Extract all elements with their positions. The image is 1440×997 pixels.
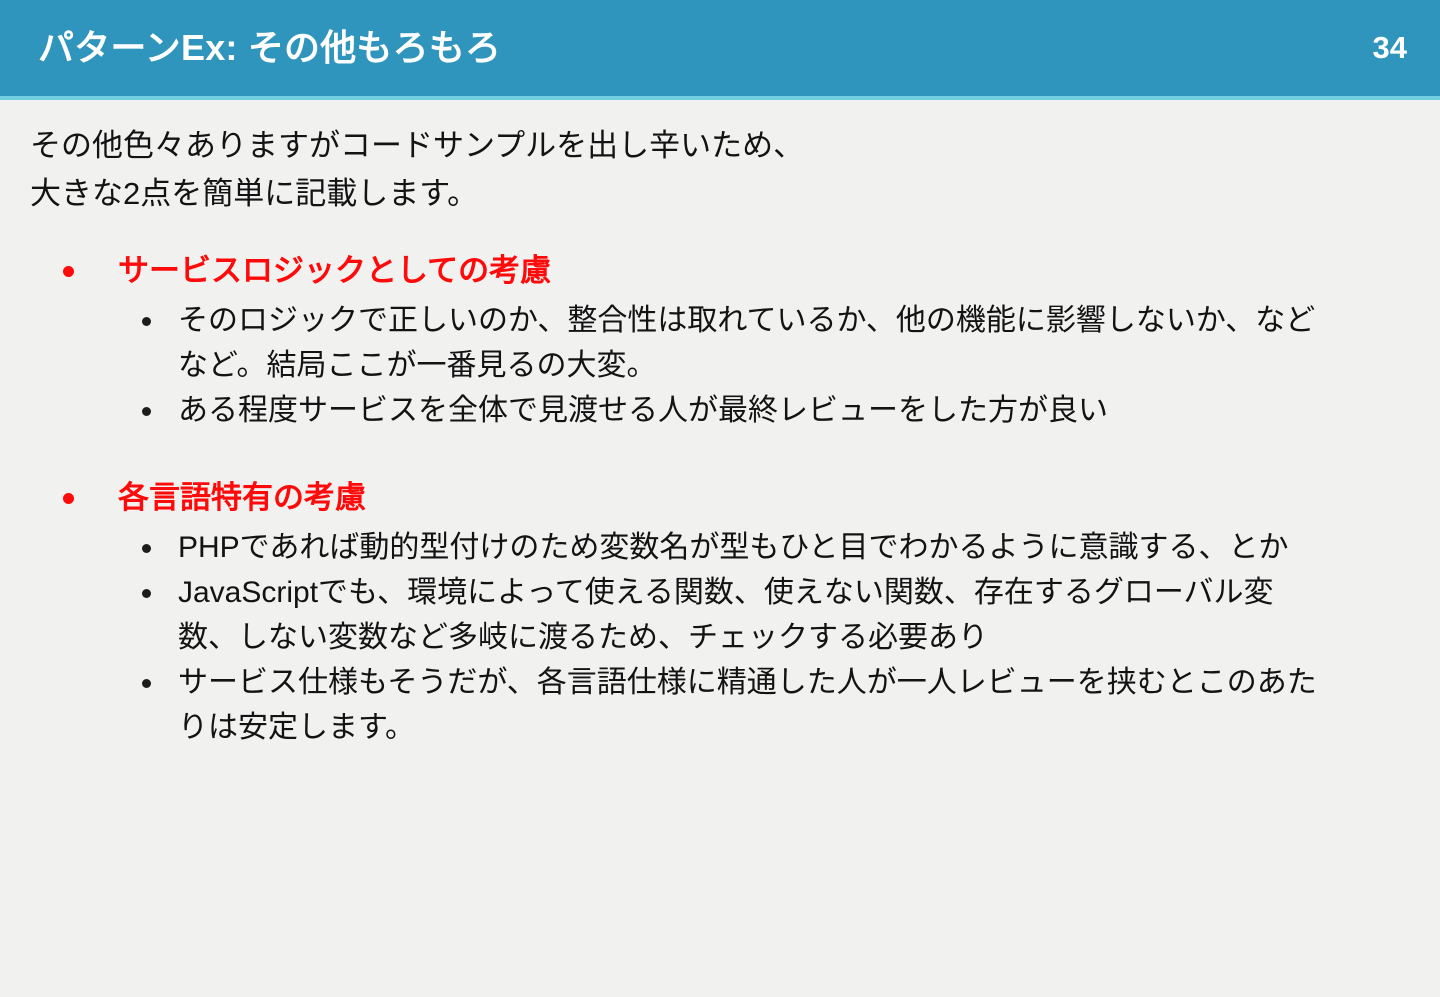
section-language-specific: 各言語特有の考慮 PHPであれば動的型付けのため変数名が型もひと目でわかるように… (30, 475, 1330, 750)
list-item-label: ある程度サービスを全体で見渡せる人が最終レビューをした方が良い (178, 388, 1330, 433)
section-heading: サービスロジックとしての考慮 (30, 248, 1330, 294)
slide-header: パターンEx: その他もろもろ 34 (0, 0, 1440, 96)
section-heading: 各言語特有の考慮 (30, 475, 1330, 521)
section-bullet-list: PHPであれば動的型付けのため変数名が型もひと目でわかるように意識する、とか J… (30, 525, 1330, 750)
list-item-label: そのロジックで正しいのか、整合性は取れているか、他の機能に影響しないか、などなど… (178, 298, 1330, 388)
bullet-disc-icon (63, 266, 74, 277)
section-heading-label: 各言語特有の考慮 (118, 480, 366, 515)
section-service-logic: サービスロジックとしての考慮 そのロジックで正しいのか、整合性は取れているか、他… (30, 248, 1330, 433)
list-item-label: JavaScriptでも、環境によって使える関数、使えない関数、存在するグローバ… (178, 570, 1330, 660)
list-item: ある程度サービスを全体で見渡せる人が最終レビューをした方が良い (30, 388, 1330, 433)
list-item: JavaScriptでも、環境によって使える関数、使えない関数、存在するグローバ… (30, 570, 1330, 660)
section-heading-label: サービスロジックとしての考慮 (118, 253, 551, 288)
section-bullet-list: そのロジックで正しいのか、整合性は取れているか、他の機能に影響しないか、などなど… (30, 298, 1330, 433)
intro-paragraph: その他色々ありますがコードサンプルを出し辛いため、 大きな2点を簡単に記載します… (30, 122, 1330, 218)
list-item-label: サービス仕様もそうだが、各言語仕様に精通した人が一人レビューを挟むとこのあたりは… (178, 660, 1330, 750)
bullet-disc-icon (63, 493, 74, 504)
list-item: サービス仕様もそうだが、各言語仕様に精通した人が一人レビューを挟むとこのあたりは… (30, 660, 1330, 750)
bullet-dot-icon (142, 544, 151, 553)
list-item-label: PHPであれば動的型付けのため変数名が型もひと目でわかるように意識する、とか (178, 525, 1330, 570)
page-title: パターンEx: その他もろもろ (38, 22, 501, 74)
intro-line-1: その他色々ありますがコードサンプルを出し辛いため、 (30, 122, 1330, 170)
list-item: そのロジックで正しいのか、整合性は取れているか、他の機能に影響しないか、などなど… (30, 298, 1330, 388)
bullet-dot-icon (142, 589, 151, 598)
slide: パターンEx: その他もろもろ 34 その他色々ありますがコードサンプルを出し辛… (0, 0, 1440, 997)
list-item: PHPであれば動的型付けのため変数名が型もひと目でわかるように意識する、とか (30, 525, 1330, 570)
slide-number: 34 (1373, 26, 1407, 70)
bullet-dot-icon (142, 407, 151, 416)
bullet-dot-icon (142, 317, 151, 326)
slide-body: その他色々ありますがコードサンプルを出し辛いため、 大きな2点を簡単に記載します… (0, 100, 1440, 997)
intro-line-2: 大きな2点を簡単に記載します。 (30, 170, 1330, 218)
bullet-dot-icon (142, 679, 151, 688)
